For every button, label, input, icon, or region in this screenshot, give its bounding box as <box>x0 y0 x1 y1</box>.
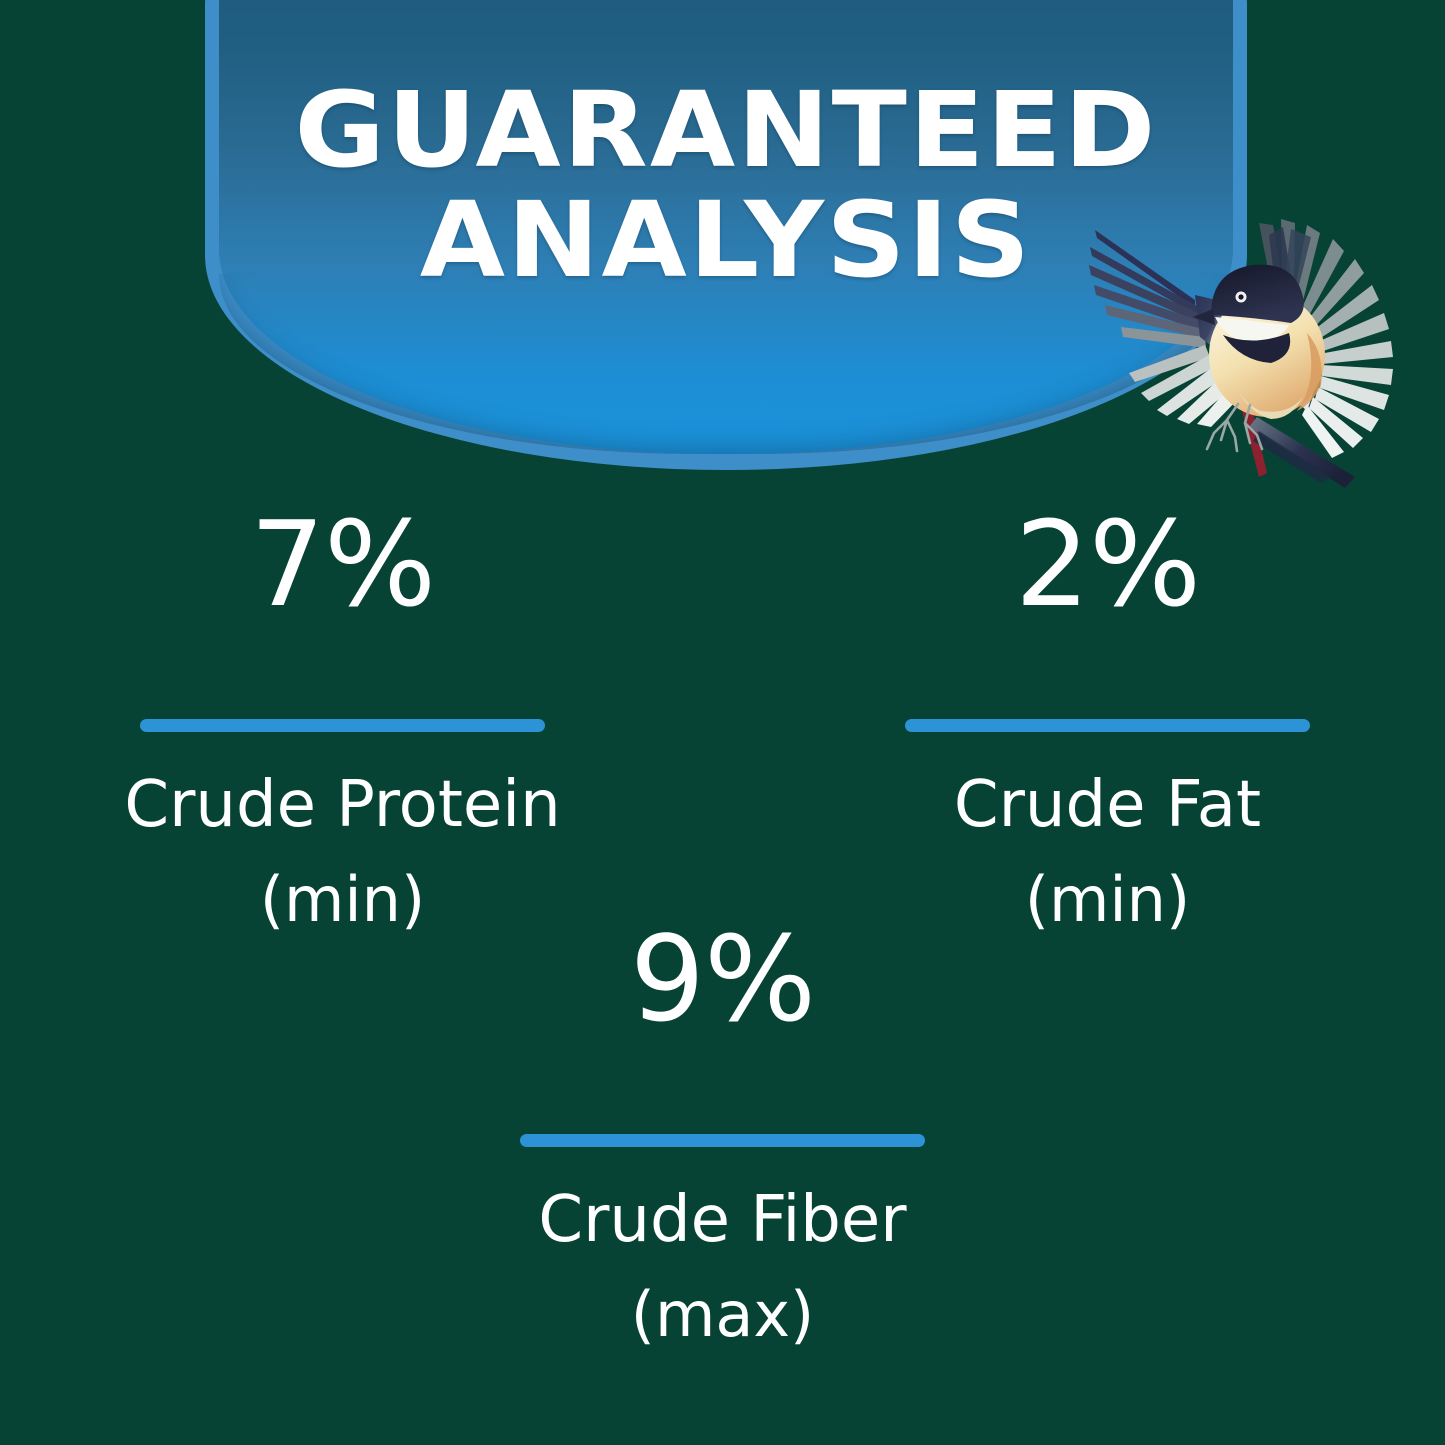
stat-value-crude-fat: 2% <box>825 505 1390 623</box>
stat-divider-crude-fat <box>905 719 1310 732</box>
stat-label-crude-fiber: Crude Fiber <box>440 1187 1005 1254</box>
header-banner: GUARANTEED ANALYSIS <box>205 0 1247 470</box>
stat-label-crude-fat: Crude Fat <box>825 772 1390 839</box>
bird-tail <box>1241 400 1355 488</box>
stat-value-crude-fiber: 9% <box>440 920 1005 1038</box>
guaranteed-analysis-stats: 7% Crude Protein (min) 2% Crude Fat (min… <box>0 505 1445 935</box>
stat-crude-protein: 7% Crude Protein (min) <box>60 505 625 932</box>
title-line-1: GUARANTEED <box>174 80 1279 182</box>
stat-label-crude-protein: Crude Protein <box>60 772 625 839</box>
stat-qualifier-crude-fiber: (max) <box>440 1282 1005 1347</box>
page-title: GUARANTEED ANALYSIS <box>205 80 1247 292</box>
bird-right-wing <box>1259 219 1393 458</box>
stats-top-row: 7% Crude Protein (min) 2% Crude Fat (min… <box>0 505 1445 935</box>
stat-divider-crude-fiber <box>520 1134 925 1147</box>
stat-value-crude-protein: 7% <box>60 505 625 623</box>
stat-divider-crude-protein <box>140 719 545 732</box>
stat-crude-fiber: 9% Crude Fiber (max) <box>440 920 1005 1347</box>
stat-crude-fat: 2% Crude Fat (min) <box>825 505 1390 932</box>
title-line-2: ANALYSIS <box>174 190 1279 292</box>
guaranteed-analysis-panel: GUARANTEED ANALYSIS <box>0 0 1445 1445</box>
